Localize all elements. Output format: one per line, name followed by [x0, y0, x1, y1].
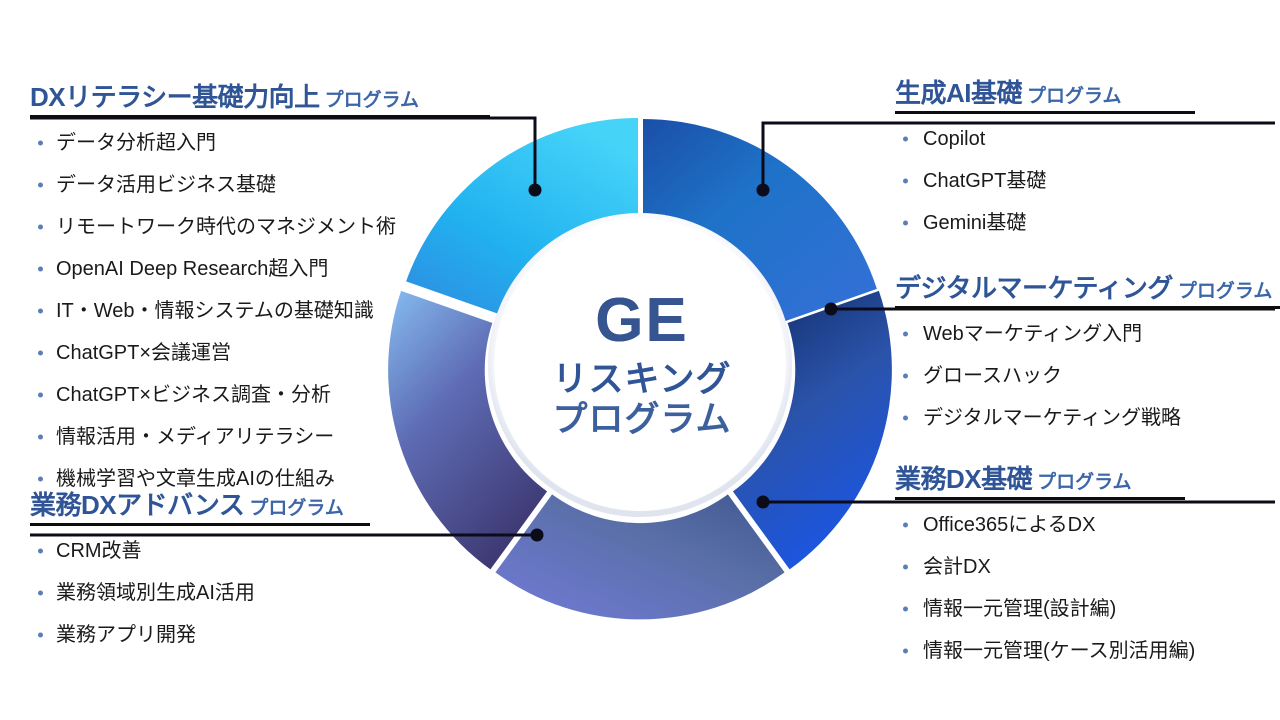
section-title-main: 業務DXアドバンス	[30, 490, 244, 520]
section-title-main: デジタルマーケティング	[895, 273, 1173, 303]
list-item[interactable]: 情報活用・メディアリテラシー	[30, 416, 500, 458]
list-item[interactable]: リモートワーク時代のマネジメント術	[30, 206, 500, 248]
section-title-digital-marketing: デジタルマーケティングプログラム	[895, 275, 1280, 304]
section-title-suffix: プログラム	[249, 498, 343, 519]
section-title-suffix: プログラム	[325, 90, 419, 111]
section-title-main: 業務DX基礎	[895, 464, 1032, 494]
list-item[interactable]: ChatGPT基礎	[895, 160, 1280, 202]
list-item[interactable]: IT・Web・情報システムの基礎知識	[30, 290, 500, 332]
list-item[interactable]: Webマーケティング入門	[895, 313, 1280, 355]
section-title-gyomu-dx-advance: 業務DXアドバンスプログラム	[30, 492, 380, 521]
section-dx-literacy: DXリテラシー基礎力向上プログラム データ分析超入門 データ活用ビジネス基礎 リ…	[30, 84, 500, 500]
infographic-stage: GE リスキング プログラム	[0, 0, 1280, 720]
section-title-generative-ai-basic: 生成AI基礎プログラム	[895, 80, 1280, 109]
section-title-suffix: プログラム	[1178, 281, 1272, 302]
section-title-dx-literacy: DXリテラシー基礎力向上プログラム	[30, 84, 500, 113]
section-digital-marketing: デジタルマーケティングプログラム Webマーケティング入門 グロースハック デジ…	[895, 275, 1280, 439]
section-title-gyomu-dx-basic: 業務DX基礎プログラム	[895, 466, 1280, 495]
list-item[interactable]: Copilot	[895, 118, 1280, 160]
section-underline	[30, 115, 490, 118]
list-item[interactable]: 業務領域別生成AI活用	[30, 572, 380, 614]
list-item[interactable]: データ活用ビジネス基礎	[30, 164, 500, 206]
list-item[interactable]: Office365によるDX	[895, 504, 1280, 546]
section-title-suffix: プログラム	[1027, 86, 1121, 107]
list-item[interactable]: デジタルマーケティング戦略	[895, 397, 1280, 439]
section-item-list-generative-ai-basic: Copilot ChatGPT基礎 Gemini基礎	[895, 118, 1280, 244]
section-gyomu-dx-basic: 業務DX基礎プログラム Office365によるDX 会計DX 情報一元管理(設…	[895, 466, 1280, 672]
section-title-main: 生成AI基礎	[895, 78, 1022, 108]
list-item[interactable]: 業務アプリ開発	[30, 614, 380, 656]
list-item[interactable]: ChatGPT×ビジネス調査・分析	[30, 374, 500, 416]
section-generative-ai-basic: 生成AI基礎プログラム Copilot ChatGPT基礎 Gemini基礎	[895, 80, 1280, 244]
list-item[interactable]: 情報一元管理(設計編)	[895, 588, 1280, 630]
list-item[interactable]: OpenAI Deep Research超入門	[30, 248, 500, 290]
list-item[interactable]: ChatGPT×会議運営	[30, 332, 500, 374]
list-item[interactable]: Gemini基礎	[895, 202, 1280, 244]
list-item[interactable]: CRM改善	[30, 530, 380, 572]
section-item-list-gyomu-dx-advance: CRM改善 業務領域別生成AI活用 業務アプリ開発	[30, 530, 380, 656]
donut-hole-inner	[494, 219, 786, 511]
section-item-list-dx-literacy: データ分析超入門 データ活用ビジネス基礎 リモートワーク時代のマネジメント術 O…	[30, 122, 500, 500]
section-underline	[895, 306, 1280, 309]
section-title-suffix: プログラム	[1037, 472, 1131, 493]
section-item-list-digital-marketing: Webマーケティング入門 グロースハック デジタルマーケティング戦略	[895, 313, 1280, 439]
list-item[interactable]: 情報一元管理(ケース別活用編)	[895, 630, 1280, 672]
section-gyomu-dx-advance: 業務DXアドバンスプログラム CRM改善 業務領域別生成AI活用 業務アプリ開発	[30, 492, 380, 656]
section-underline	[30, 523, 370, 526]
section-underline	[895, 497, 1185, 500]
list-item[interactable]: 会計DX	[895, 546, 1280, 588]
section-underline	[895, 111, 1195, 114]
section-title-main: DXリテラシー基礎力向上	[30, 82, 320, 112]
section-item-list-gyomu-dx-basic: Office365によるDX 会計DX 情報一元管理(設計編) 情報一元管理(ケ…	[895, 504, 1280, 672]
list-item[interactable]: データ分析超入門	[30, 122, 500, 164]
list-item[interactable]: グロースハック	[895, 355, 1280, 397]
